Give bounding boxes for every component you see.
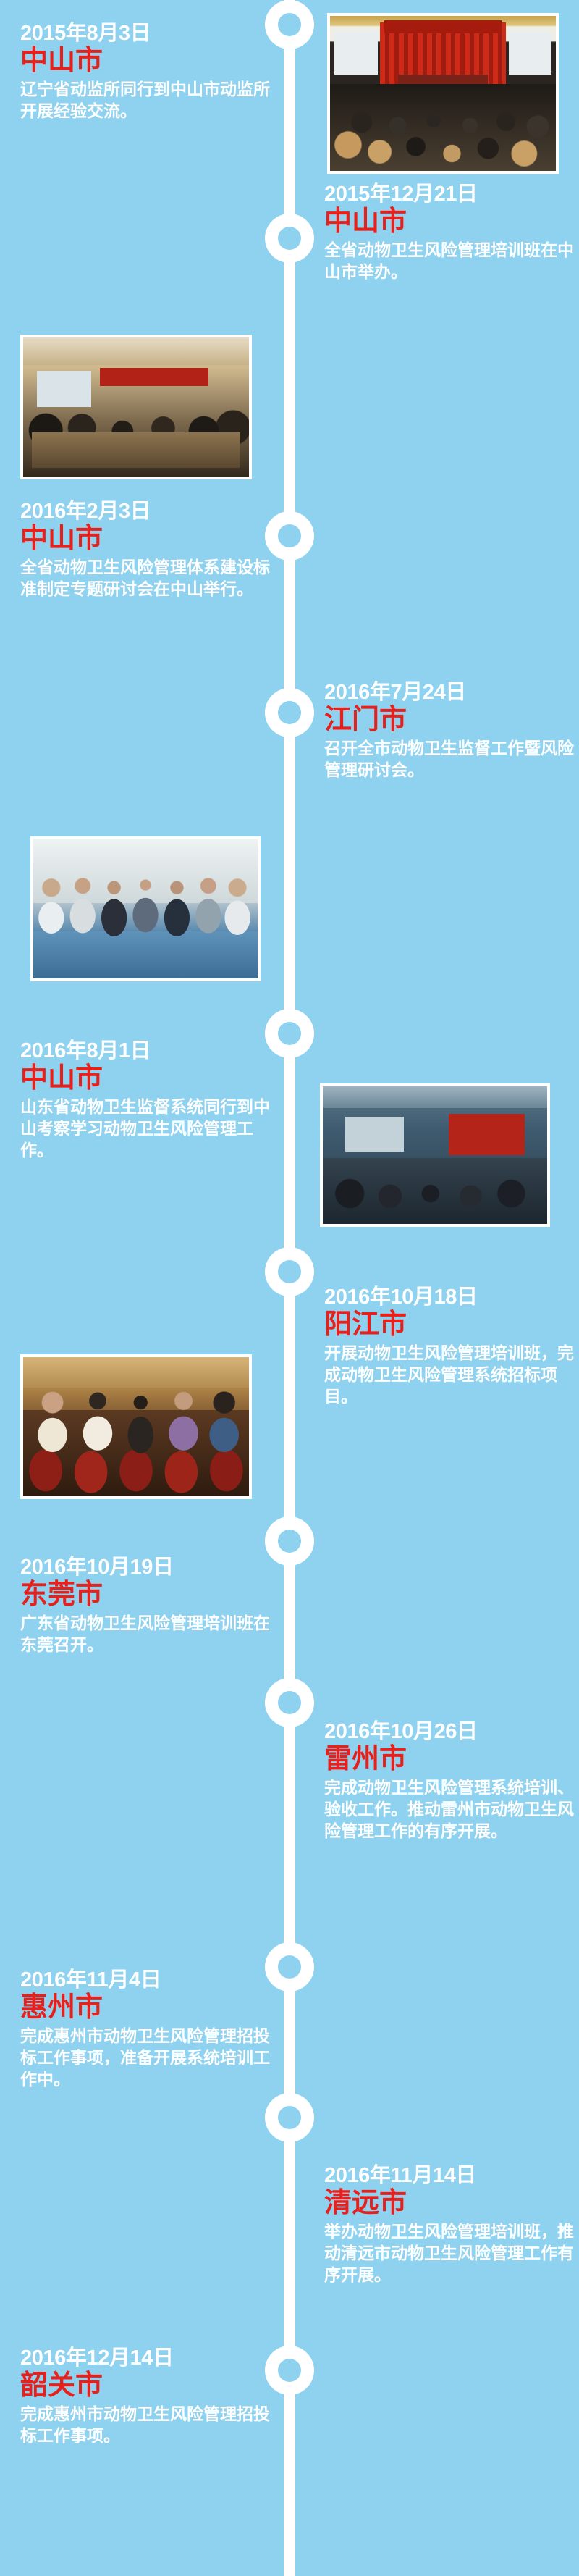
photo-hallway-delegation-visit — [30, 836, 261, 981]
entry-date: 2016年2月3日 — [20, 500, 274, 523]
timeline-node-3[interactable] — [265, 511, 314, 561]
entry-city: 中山市 — [20, 1064, 274, 1094]
timeline-node-11[interactable] — [265, 2346, 314, 2395]
photo-content — [23, 1357, 249, 1496]
entry-body: 开展动物卫生风险管理培训班，完成动物卫生风险管理系统招标项目。 — [324, 1343, 578, 1408]
timeline-node-7[interactable] — [265, 1516, 314, 1566]
red-banner — [100, 368, 208, 386]
photo-content — [330, 16, 556, 171]
stage-banner — [384, 20, 502, 33]
entry-body: 完成惠州市动物卫生风险管理招投标工作事项。 — [20, 2404, 274, 2447]
entry-date: 2015年12月21日 — [324, 182, 578, 206]
entry-city: 东莞市 — [20, 1580, 274, 1611]
timeline-entry-11[interactable]: 2016年12月14日 韶关市 完成惠州市动物卫生风险管理招投标工作事项。 — [20, 2346, 274, 2447]
timeline-node-10[interactable] — [265, 2093, 314, 2142]
conference-table — [32, 432, 240, 469]
entry-date: 2016年10月19日 — [20, 1556, 274, 1579]
entry-body: 辽宁省动监所同行到中山市动监所开展经验交流。 — [20, 79, 274, 122]
projection-screen — [345, 1117, 404, 1152]
audience-backs — [23, 1385, 249, 1465]
ceiling — [323, 1086, 547, 1108]
photo-classroom-training-session — [320, 1083, 550, 1227]
entry-body: 全省动物卫生风险管理培训班在中山市举办。 — [324, 240, 578, 283]
entry-date: 2016年11月4日 — [20, 1968, 274, 1992]
entry-city: 雷州市 — [324, 1745, 578, 1775]
entry-body: 山东省动物卫生监督系统同行到中山考察学习动物卫生风险管理工作。 — [20, 1096, 274, 1162]
timeline-node-5[interactable] — [265, 1009, 314, 1058]
timeline-entry-7[interactable]: 2016年10月19日 东莞市 广东省动物卫生风险管理培训班在东莞召开。 — [20, 1556, 274, 1656]
timeline-entry-1[interactable]: 2015年8月3日 中山市 辽宁省动监所同行到中山市动监所开展经验交流。 — [20, 22, 274, 122]
entry-city: 清远市 — [324, 2189, 578, 2219]
entry-city: 惠州市 — [20, 1993, 274, 2023]
timeline-node-1[interactable] — [265, 0, 314, 49]
auditorium-wall — [23, 1357, 249, 1388]
entry-body: 广东省动物卫生风险管理培训班在东莞召开。 — [20, 1613, 274, 1656]
timeline-entry-5[interactable]: 2016年8月1日 中山市 山东省动物卫生监督系统同行到中山考察学习动物卫生风险… — [20, 1039, 274, 1162]
photo-auditorium-seated-audience — [20, 1354, 252, 1499]
entry-date: 2015年8月3日 — [20, 22, 274, 45]
timeline-entry-6[interactable]: 2016年10月18日 阳江市 开展动物卫生风险管理培训班，完成动物卫生风险管理… — [324, 1285, 578, 1408]
entry-city: 中山市 — [20, 46, 274, 77]
entry-city: 中山市 — [20, 524, 274, 555]
timeline-node-6[interactable] — [265, 1247, 314, 1296]
entry-body: 完成动物卫生风险管理系统培训、验收工作。推动雷州市动物卫生风险管理工作的有序开展… — [324, 1777, 578, 1842]
entry-body: 完成惠州市动物卫生风险管理招投标工作事项，准备开展系统培训工作中。 — [20, 2026, 274, 2091]
ceiling — [23, 337, 249, 365]
entry-city: 阳江市 — [324, 1310, 578, 1341]
photo-content — [33, 839, 258, 978]
entry-body: 全省动物卫生风险管理体系建设标准制定专题研讨会在中山举行。 — [20, 557, 274, 600]
photo-meeting-room-red-banner — [20, 335, 252, 479]
timeline-node-4[interactable] — [265, 688, 314, 737]
standing-group — [33, 865, 258, 954]
entry-city: 江门市 — [324, 705, 578, 736]
entry-date: 2016年8月1日 — [20, 1039, 274, 1062]
entry-date: 2016年7月24日 — [324, 681, 578, 704]
timeline-entry-9[interactable]: 2016年11月4日 惠州市 完成惠州市动物卫生风险管理招投标工作事项，准备开展… — [20, 1968, 274, 2091]
photo-content — [323, 1086, 547, 1224]
entry-date: 2016年12月14日 — [20, 2346, 274, 2370]
entry-date: 2016年11月14日 — [324, 2164, 578, 2187]
timeline-node-8[interactable] — [265, 1678, 314, 1727]
entry-city: 韶关市 — [20, 2371, 274, 2401]
entry-city: 中山市 — [324, 207, 578, 238]
timeline-entry-10[interactable]: 2016年11月14日 清远市 举办动物卫生风险管理培训班，推动清远市动物卫生风… — [324, 2164, 578, 2286]
projection-screen-left — [334, 31, 377, 75]
timeline-entry-4[interactable]: 2016年7月24日 江门市 召开全市动物卫生监督工作暨风险管理研讨会。 — [324, 681, 578, 781]
timeline-entry-2[interactable]: 2015年12月21日 中山市 全省动物卫生风险管理培训班在中山市举办。 — [324, 182, 578, 283]
timeline-node-2[interactable] — [265, 214, 314, 263]
timeline-entry-3[interactable]: 2016年2月3日 中山市 全省动物卫生风险管理体系建设标准制定专题研讨会在中山… — [20, 500, 274, 600]
photo-content — [23, 337, 249, 477]
entry-body: 举办动物卫生风险管理培训班，推动清远市动物卫生风险管理工作有序开展。 — [324, 2221, 578, 2286]
timeline-entry-8[interactable]: 2016年10月26日 雷州市 完成动物卫生风险管理系统培训、验收工作。推动雷州… — [324, 1720, 578, 1842]
photo-conference-hall-red-stage — [327, 13, 559, 174]
entry-body: 召开全市动物卫生监督工作暨风险管理研讨会。 — [324, 738, 578, 781]
timeline-node-9[interactable] — [265, 1942, 314, 1992]
timeline-infographic: 2015年8月3日 中山市 辽宁省动监所同行到中山市动监所开展经验交流。 201… — [0, 0, 579, 2576]
desk-rows — [323, 1158, 547, 1224]
entry-date: 2016年10月26日 — [324, 1720, 578, 1743]
audience-seating — [330, 84, 556, 171]
projection-screen-right — [509, 31, 551, 75]
entry-date: 2016年10月18日 — [324, 1285, 578, 1309]
red-display-screen — [449, 1114, 525, 1155]
